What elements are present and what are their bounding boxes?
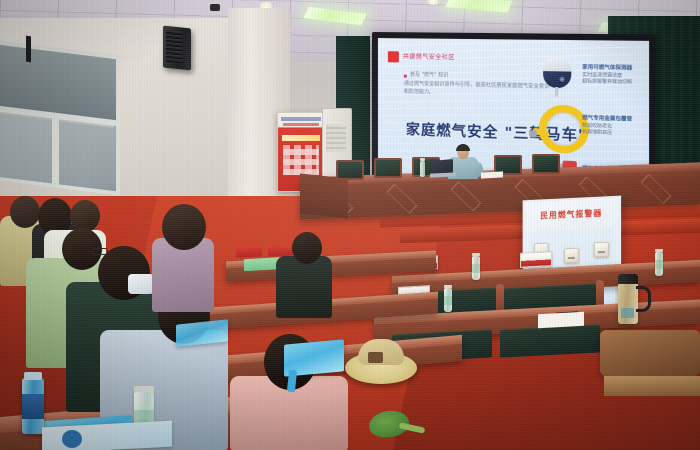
gas-detector-stem [555,87,558,96]
bottle-cap [134,386,154,392]
product-2-desc-1: 防鼠咬防老化 [582,123,612,129]
poster-title: 民用燃气报警器 [525,207,620,222]
attendee-head [10,196,40,228]
sports-drink-bottle [22,378,44,434]
slide-bullet-3: 和防范能力。 [404,88,434,96]
wall-speaker [163,26,191,71]
window [0,40,120,195]
bottle-cap [420,158,425,161]
water-bottle [420,161,425,177]
attendee-head [70,200,100,232]
window-mullion-vertical [52,112,59,184]
head-chair[interactable] [374,158,402,178]
brochure-figure-icon [62,430,82,448]
gas-alarm-device-icon [594,242,609,258]
speaker-grille [166,30,183,64]
thermos-label [621,308,634,318]
promo-banner-grid [283,145,319,175]
gas-detector-led-icon [559,77,564,82]
speaker-bracket [26,36,31,63]
head-table-left-return [300,173,348,218]
name-placard [236,245,262,257]
thermos-handle [636,286,651,312]
bottle-label [655,260,663,269]
slide-kicker-text: 共建燃气安全社区 [403,51,455,61]
slide-marker-icon [388,51,399,62]
bottle-cap [444,285,452,288]
presenter-hair [456,144,470,151]
water-bottle [655,252,663,276]
head-chair[interactable] [532,154,560,174]
attendee-torso [276,256,332,318]
face-mask-icon [128,274,154,294]
product-2-label: 燃气专用金属包覆管 防鼠咬防老化 抗腐蚀耐高压 [582,114,632,137]
bottle-label [472,264,480,273]
slide-bullet-1: 普及 "燃气" 知识 [410,71,448,79]
bench-seat[interactable] [600,330,700,376]
promo-banner-strip [282,135,320,141]
table-panel-diamond [641,174,671,204]
product-2-name: 燃气专用金属包覆管 [582,114,632,123]
gas-hose-connector-icon [529,130,536,138]
straw-hat-band [368,352,383,363]
seat-back[interactable] [500,324,600,357]
sports-drink-cap [24,372,42,380]
sports-drink-label [22,394,44,420]
bottle-label [444,296,452,305]
water-bottle [444,288,452,312]
water-bottle [472,256,480,280]
product-1-desc-2: 超标即报警并联动切断 [582,79,632,85]
paper-sheet [538,312,584,328]
ceiling-camera-icon [210,4,220,11]
promo-banner-subline [283,123,319,126]
attendee-head [292,232,322,264]
bench-surface [604,376,700,396]
promo-banner-headline [281,117,321,121]
gas-alarm-device-icon [564,248,579,263]
product-2-desc-2: 抗腐蚀耐高压 [582,130,612,136]
bottle-cap [655,249,663,252]
attendee-head [162,204,206,250]
papers-on-head-table [481,171,503,178]
ac-vent [326,124,346,152]
name-placard [520,251,552,268]
product-1-name: 家用可燃气体探测器 [582,63,632,71]
product-1-label: 家用可燃气体探测器 实时监测泄漏浓度 超标即报警并联动切断 [582,63,632,85]
name-placard [268,244,294,256]
slide-bullet-dot-icon [404,75,407,78]
table-panel-diamond [387,184,417,214]
head-chair[interactable] [336,160,364,180]
product-1-desc-1: 实时监测泄漏浓度 [582,73,622,79]
table-panel-diamond [451,181,481,211]
bottle-cap [472,253,480,256]
photo-canvas: 共建燃气安全社区 普及 "燃气" 知识 通过燃气安全知识宣传与引导，提高社区居民… [0,0,700,450]
thermos-lid [618,274,638,284]
